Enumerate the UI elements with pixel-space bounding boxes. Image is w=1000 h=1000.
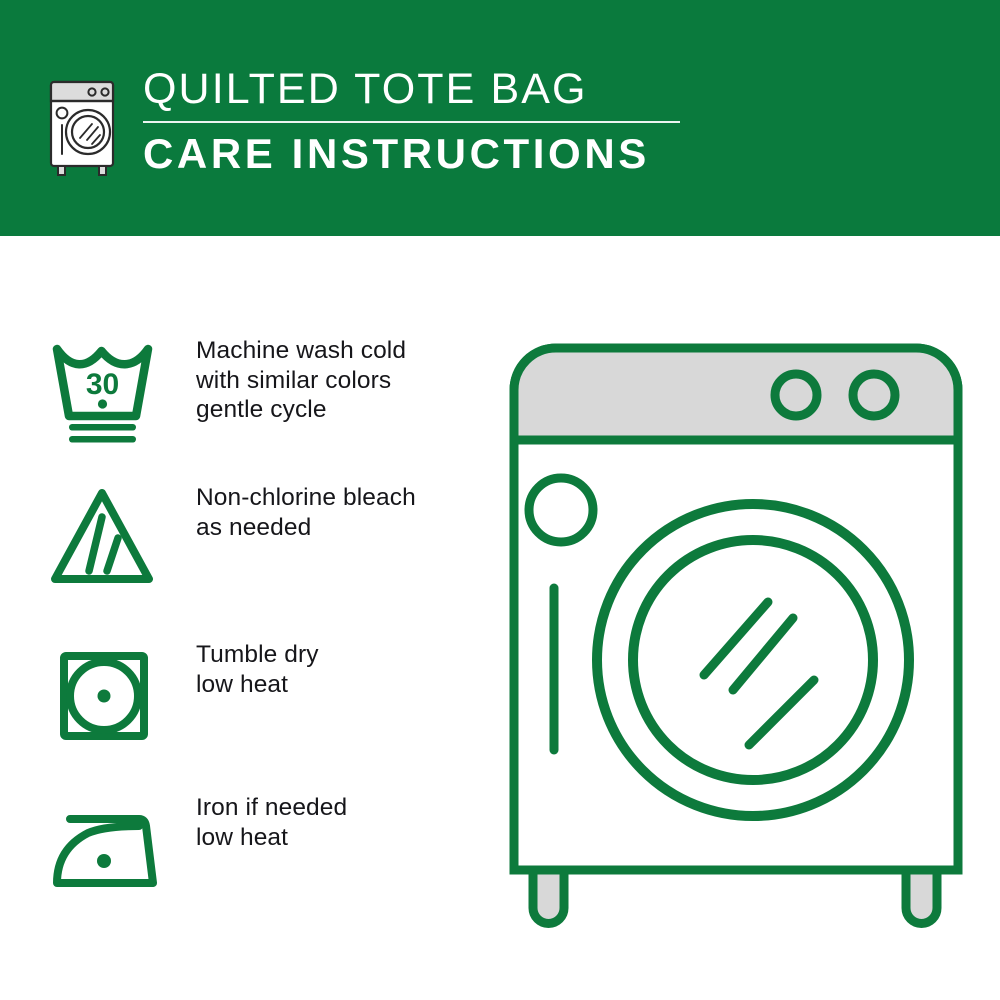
care-label-line: low heat xyxy=(196,823,347,853)
page-title: QUILTED TOTE BAG xyxy=(143,64,703,114)
care-label-line: Machine wash cold xyxy=(196,336,406,366)
care-label-line: Iron if needed xyxy=(196,793,347,823)
iron-low-heat-icon xyxy=(38,793,170,905)
front-load-washing-machine-illustration xyxy=(496,330,976,930)
header-banner: QUILTED TOTE BAG CARE INSTRUCTIONS xyxy=(0,0,1000,236)
washing-machine-icon xyxy=(42,68,130,180)
care-item-label: Tumble dry low heat xyxy=(196,640,319,699)
wash-temperature-value: 30 xyxy=(86,368,119,401)
tumble-dry-low-heat-icon xyxy=(38,640,170,752)
care-item-label: Non-chlorine bleach as needed xyxy=(196,483,416,542)
care-item-iron: Iron if needed low heat xyxy=(0,793,500,905)
care-label-line: with similar colors xyxy=(196,366,406,396)
care-label-line: gentle cycle xyxy=(196,395,406,425)
care-label-line: Tumble dry xyxy=(196,640,319,670)
wash-tub-30-gentle-icon: 30 xyxy=(38,336,170,448)
title-divider xyxy=(143,121,680,123)
care-item-label: Machine wash cold with similar colors ge… xyxy=(196,336,406,425)
page-subtitle: CARE INSTRUCTIONS xyxy=(143,129,703,179)
care-label-line: low heat xyxy=(196,670,319,700)
care-label-line: as needed xyxy=(196,513,416,543)
care-label-line: Non-chlorine bleach xyxy=(196,483,416,513)
care-instructions-infographic: QUILTED TOTE BAG CARE INSTRUCTIONS 30 xyxy=(0,0,1000,1000)
non-chlorine-bleach-triangle-icon xyxy=(38,483,170,595)
care-item-machine-wash: 30 Machine wash cold with similar colors… xyxy=(0,336,500,448)
care-instruction-list: 30 Machine wash cold with similar colors… xyxy=(0,236,500,1000)
care-item-tumble-dry: Tumble dry low heat xyxy=(0,640,500,752)
care-item-bleach: Non-chlorine bleach as needed xyxy=(0,483,500,595)
machine-leg xyxy=(906,870,937,924)
machine-leg xyxy=(533,870,564,923)
header-text-block: QUILTED TOTE BAG CARE INSTRUCTIONS xyxy=(143,64,703,179)
care-item-label: Iron if needed low heat xyxy=(196,793,347,852)
